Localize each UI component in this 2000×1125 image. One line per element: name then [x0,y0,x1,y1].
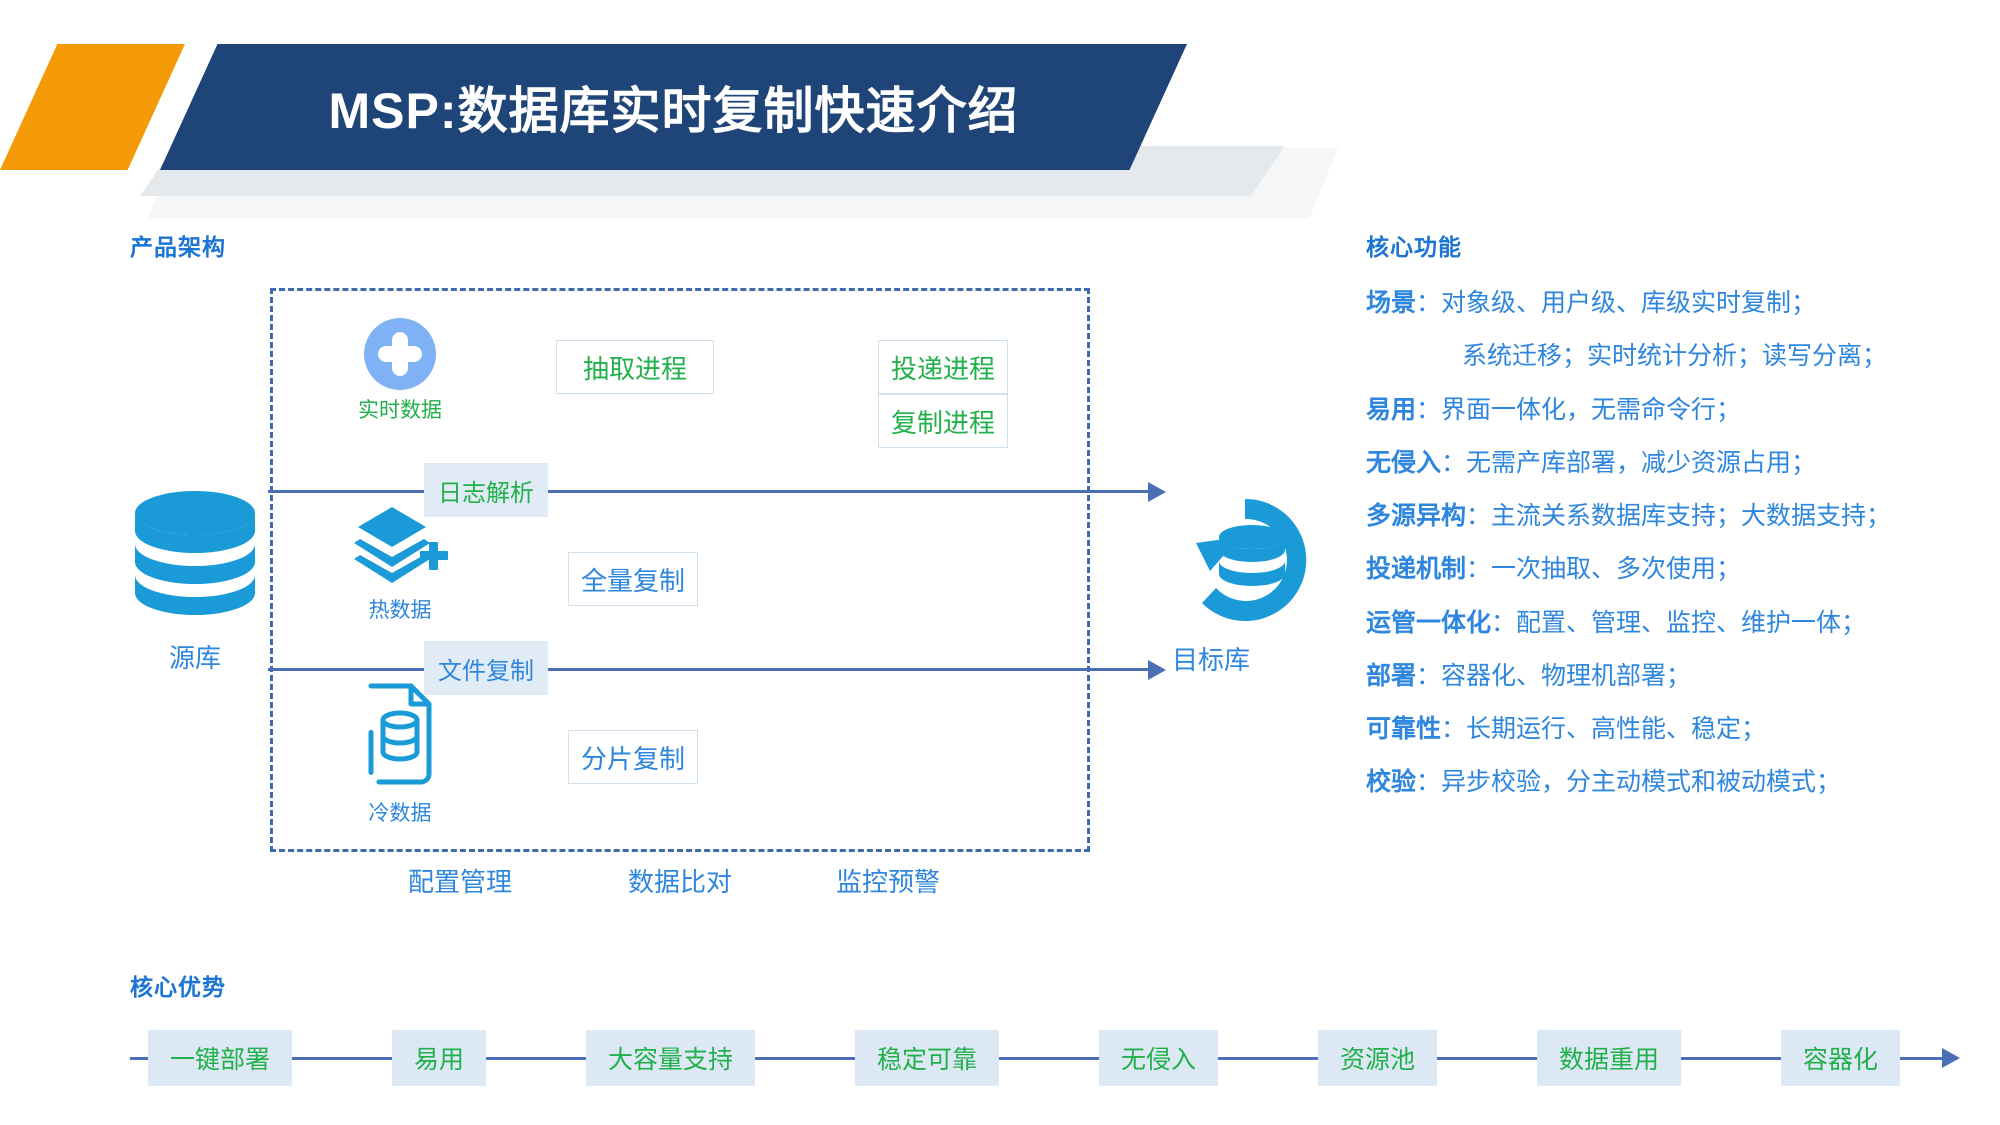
arch-footer-data-comparison: 数据比对 [600,862,760,899]
function-item-key: 无侵入 [1366,449,1441,477]
advantage-chip-6[interactable]: 数据重用 [1537,1030,1681,1086]
function-item-4: 多源异构：主流关系数据库支持；大数据支持； [1366,501,2000,532]
section-title-advantages: 核心优势 [130,968,226,1002]
stage-cold-caption: 冷数据 [330,797,470,827]
function-item-key: 部署 [1366,662,1416,690]
target-database-label: 目标库 [1150,640,1340,677]
function-item-1: 系统迁移；实时统计分析；读写分离； [1366,341,2000,372]
function-item-9: 校验：异步校验，分主动模式和被动模式； [1366,767,2000,798]
target-database-icon [1160,485,1330,640]
advantage-chip-1[interactable]: 易用 [392,1030,486,1086]
flow-arrow-lower-icon [1148,660,1166,680]
advantage-connector [1681,1057,1781,1060]
source-database-icon [110,488,280,643]
function-item-5: 投递机制：一次抽取、多次使用； [1366,554,2000,585]
function-item-key: 投递机制 [1366,555,1466,583]
function-item-separator: ： [1416,662,1441,690]
source-database-label: 源库 [110,638,280,675]
function-item-separator: ： [1441,715,1466,743]
function-item-separator: ： [1441,449,1466,477]
function-item-key: 易用 [1366,396,1416,424]
stage-realtime-data: 实时数据 [330,318,470,424]
process-box-extract[interactable]: 抽取进程 [556,340,714,394]
advantage-chip-4[interactable]: 无侵入 [1099,1030,1218,1086]
function-item-value: 一次抽取、多次使用； [1491,555,1741,583]
arch-footer-config-management: 配置管理 [380,862,540,899]
function-item-key: 校验 [1366,768,1416,796]
advantage-chip-7[interactable]: 容器化 [1781,1030,1900,1086]
function-item-separator: ： [1416,396,1441,424]
flow-line-upper [268,490,1156,493]
flow-label-file-copy: 文件复制 [424,641,548,695]
function-item-key: 场景 [1366,289,1416,317]
document-database-icon [330,682,470,793]
advantage-connector [1218,1057,1318,1060]
function-item-separator: ： [1416,289,1441,317]
advantage-chip-2[interactable]: 大容量支持 [586,1030,755,1086]
advantage-chip-5[interactable]: 资源池 [1318,1030,1437,1086]
function-item-separator: ： [1491,609,1516,637]
flow-line-lower [268,668,1156,671]
function-item-value: 配置、管理、监控、维护一体； [1516,609,1866,637]
function-item-3: 无侵入：无需产库部署，减少资源占用； [1366,448,2000,479]
function-item-key: 可靠性 [1366,715,1441,743]
function-item-6: 运管一体化：配置、管理、监控、维护一体； [1366,608,2000,639]
function-item-separator: ： [1466,502,1491,530]
function-item-value: 界面一体化，无需命令行； [1441,396,1741,424]
advantage-end-arrow-icon [1900,1048,1960,1068]
function-item-value: 系统迁移；实时统计分析；读写分离； [1462,342,1887,370]
advantage-connector [999,1057,1099,1060]
function-item-separator: ： [1416,768,1441,796]
advantage-connector [755,1057,855,1060]
process-box-shard-replication[interactable]: 分片复制 [568,730,698,784]
function-item-key: 运管一体化 [1366,609,1491,637]
function-item-7: 部署：容器化、物理机部署； [1366,661,2000,692]
function-item-value: 异步校验，分主动模式和被动模式； [1441,768,1841,796]
core-functions-list: 场景：对象级、用户级、库级实时复制；系统迁移；实时统计分析；读写分离；易用：界面… [1366,288,2000,821]
header-orange-accent [0,44,185,170]
function-item-key: 多源异构 [1366,502,1466,530]
circle-plus-icon [364,318,436,390]
process-box-deliver[interactable]: 投递进程 [878,340,1008,394]
process-box-replicate[interactable]: 复制进程 [878,394,1008,448]
stage-hot-caption: 热数据 [330,594,470,624]
advantage-leading-dash [130,1057,148,1060]
section-title-functions: 核心功能 [1366,228,1462,262]
function-item-separator: ： [1466,555,1491,583]
function-item-value: 无需产库部署，减少资源占用； [1466,449,1816,477]
process-box-full-replication[interactable]: 全量复制 [568,552,698,606]
advantage-chip-3[interactable]: 稳定可靠 [855,1030,999,1086]
advantage-connector [1437,1057,1537,1060]
flow-arrow-upper-icon [1148,482,1166,502]
function-item-value: 容器化、物理机部署； [1441,662,1691,690]
advantage-connector [486,1057,586,1060]
function-item-value: 主流关系数据库支持；大数据支持； [1491,502,1891,530]
function-item-8: 可靠性：长期运行、高性能、稳定； [1366,714,2000,745]
stage-hot-data: 热数据 [330,505,470,624]
slide-root: MSP:数据库实时复制快速介绍 产品架构 核心功能 核心优势 源库 [0,0,2000,1125]
function-item-value: 长期运行、高性能、稳定； [1466,715,1766,743]
page-title: MSP:数据库实时复制快速介绍 [160,44,1187,170]
core-advantages-strip: 一键部署易用大容量支持稳定可靠无侵入资源池数据重用容器化 [130,1030,1960,1086]
layers-plus-icon [330,505,470,590]
function-item-value: 对象级、用户级、库级实时复制； [1441,289,1816,317]
arch-footer-monitoring-alert: 监控预警 [808,862,968,899]
function-item-2: 易用：界面一体化，无需命令行； [1366,395,2000,426]
stage-realtime-caption: 实时数据 [330,394,470,424]
function-item-0: 场景：对象级、用户级、库级实时复制； [1366,288,2000,319]
stage-cold-data: 冷数据 [330,682,470,827]
advantage-connector [292,1057,392,1060]
flow-label-log-parse: 日志解析 [424,463,548,517]
section-title-architecture: 产品架构 [130,228,226,262]
advantage-chip-0[interactable]: 一键部署 [148,1030,292,1086]
